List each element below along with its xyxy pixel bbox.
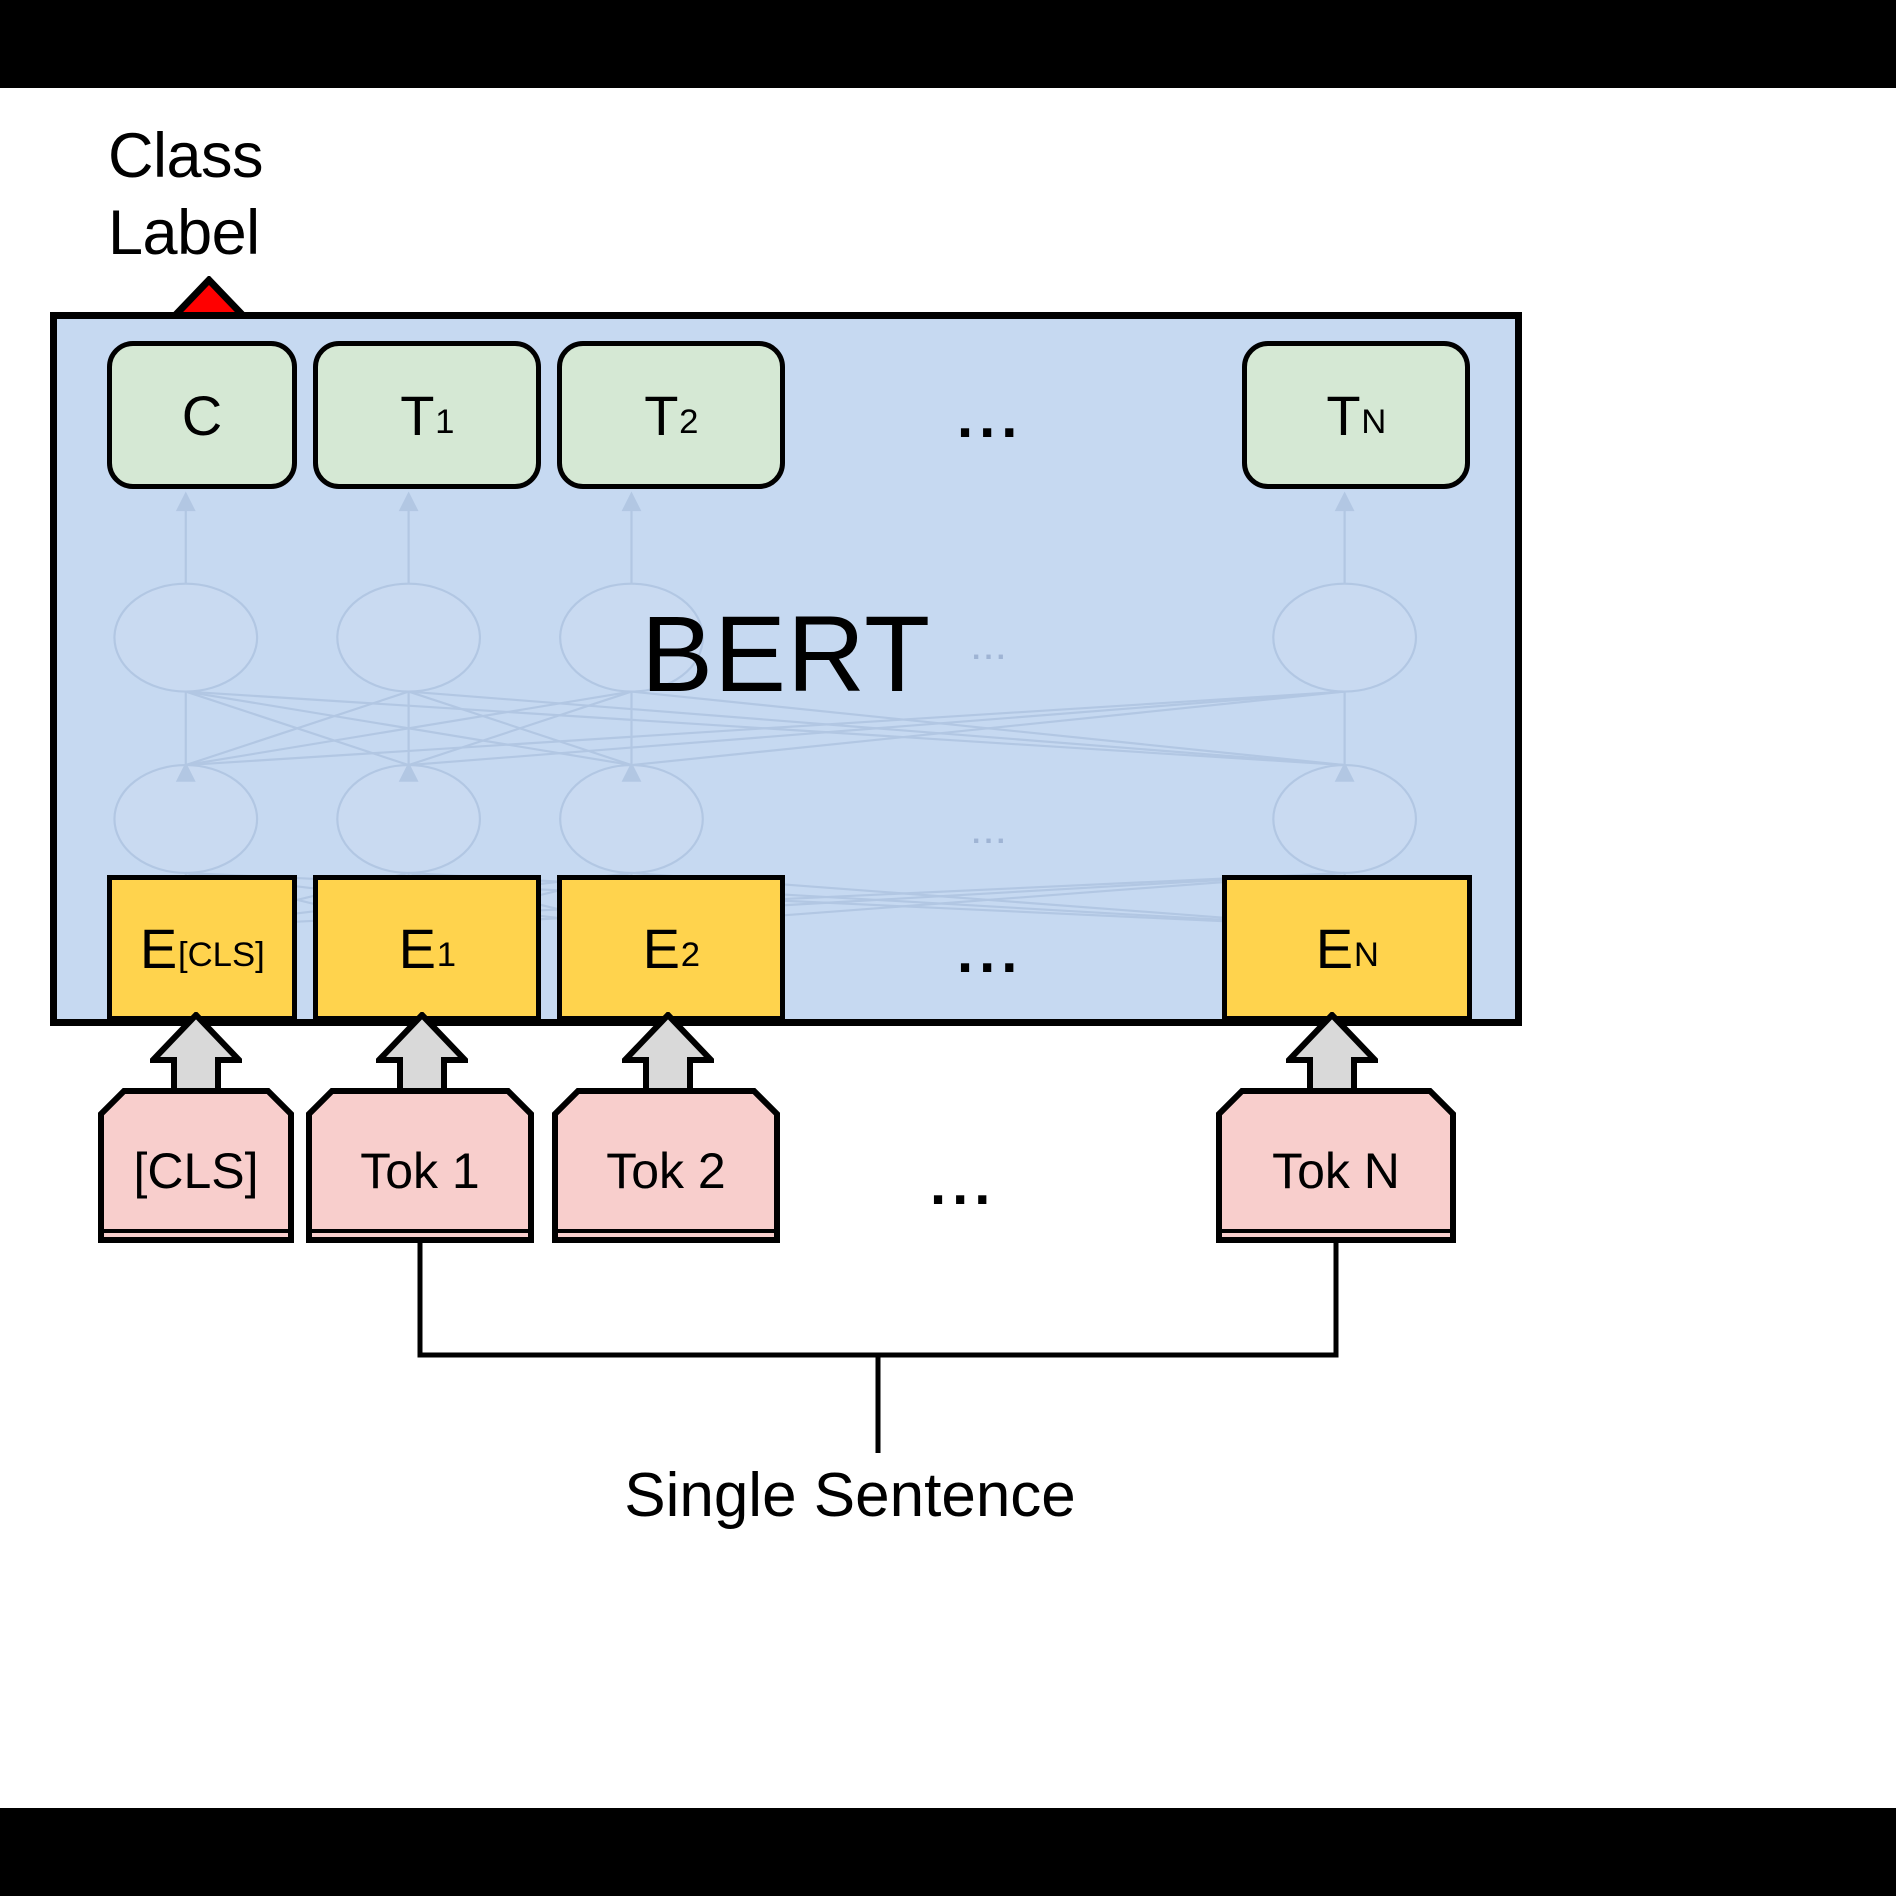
output-token-t2-sub: 2 [679, 403, 698, 442]
embedding-e2-base: E [643, 916, 680, 981]
output-token-c-label: C [182, 383, 222, 448]
embedding-en-sub: N [1354, 936, 1379, 975]
figure-canvas: Class Label [0, 0, 1896, 1896]
embedding-e1-sub: 1 [437, 936, 456, 975]
embedding-e2[interactable]: E2 [557, 875, 785, 1021]
output-token-tn[interactable]: TN [1242, 341, 1470, 489]
embedding-row-ellipsis: ... [957, 924, 1023, 982]
output-token-tn-sub: N [1361, 403, 1386, 442]
output-token-c[interactable]: C [107, 341, 297, 489]
input-token-tok1[interactable]: Tok 1 [306, 1088, 534, 1243]
embedding-e-cls-sub: [CLS] [178, 936, 265, 975]
input-token-tok2-label: Tok 2 [606, 1142, 726, 1200]
input-token-tok2[interactable]: Tok 2 [552, 1088, 780, 1243]
network-ellipsis-row1: ... [972, 635, 1009, 665]
single-sentence-bracket [0, 1238, 1896, 1478]
input-token-row-ellipsis: ... [930, 1156, 996, 1214]
single-sentence-label: Single Sentence [0, 1460, 1700, 1531]
bert-title: BERT [57, 591, 1515, 716]
bert-encoder-block: BERT ... ... C T1 T2 TN ... E[CLS] [50, 312, 1522, 1026]
embedding-e1-base: E [399, 916, 436, 981]
embedding-en-base: E [1316, 916, 1353, 981]
input-token-tokn[interactable]: Tok N [1216, 1088, 1456, 1243]
embedding-e1[interactable]: E1 [313, 875, 541, 1021]
output-token-tn-base: T [1326, 383, 1360, 448]
embedding-en[interactable]: EN [1222, 875, 1472, 1021]
diagram-area: Class Label [0, 88, 1896, 1808]
input-token-cls[interactable]: [CLS] [98, 1088, 294, 1243]
output-token-t1-sub: 1 [435, 403, 454, 442]
embedding-e-cls-base: E [140, 916, 177, 981]
input-token-tok1-label: Tok 1 [360, 1142, 480, 1200]
output-token-t1[interactable]: T1 [313, 341, 541, 489]
output-row-ellipsis: ... [957, 389, 1023, 447]
input-token-cls-label: [CLS] [133, 1142, 258, 1200]
input-token-tokn-label: Tok N [1272, 1142, 1400, 1200]
output-token-t2[interactable]: T2 [557, 341, 785, 489]
embedding-e-cls[interactable]: E[CLS] [107, 875, 297, 1021]
output-token-t2-base: T [644, 383, 678, 448]
class-label-text: Class Label [108, 118, 408, 273]
network-ellipsis-row2: ... [972, 819, 1009, 849]
output-token-t1-base: T [400, 383, 434, 448]
embedding-e2-sub: 2 [681, 936, 700, 975]
